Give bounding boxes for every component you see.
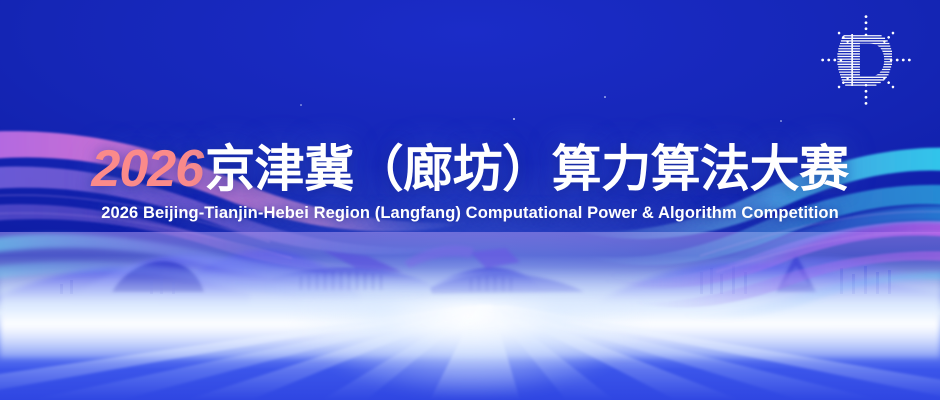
ribbon-left-cyan [0, 234, 436, 300]
building-bars-right [700, 266, 891, 294]
mountain-range-right [600, 258, 940, 312]
page-title: 2026京津冀（廊坊）算力算法大赛 [0, 140, 940, 198]
ground-plane [0, 232, 940, 400]
title-block: 2026京津冀（廊坊）算力算法大赛 2026 Beijing-Tianjin-H… [0, 140, 940, 223]
title-english: 2026 Beijing-Tianjin-Hebei Region (Langf… [0, 204, 940, 223]
tower-silhouette-right [776, 254, 816, 292]
building-bars-left [60, 276, 175, 294]
title-year: 2026 [91, 140, 205, 198]
vanishing-point-glow [260, 300, 680, 400]
dotted-burst-d-logo [814, 8, 918, 112]
event-banner: 2026京津冀（廊坊）算力算法大赛 2026 Beijing-Tianjin-H… [0, 0, 940, 400]
horizon-haze [0, 268, 940, 358]
airport-terminal-silhouette [272, 245, 584, 294]
arch-structure-left [112, 261, 204, 292]
title-chinese: 京津冀（廊坊）算力算法大赛 [205, 141, 849, 197]
mountain-range-left [0, 250, 360, 312]
